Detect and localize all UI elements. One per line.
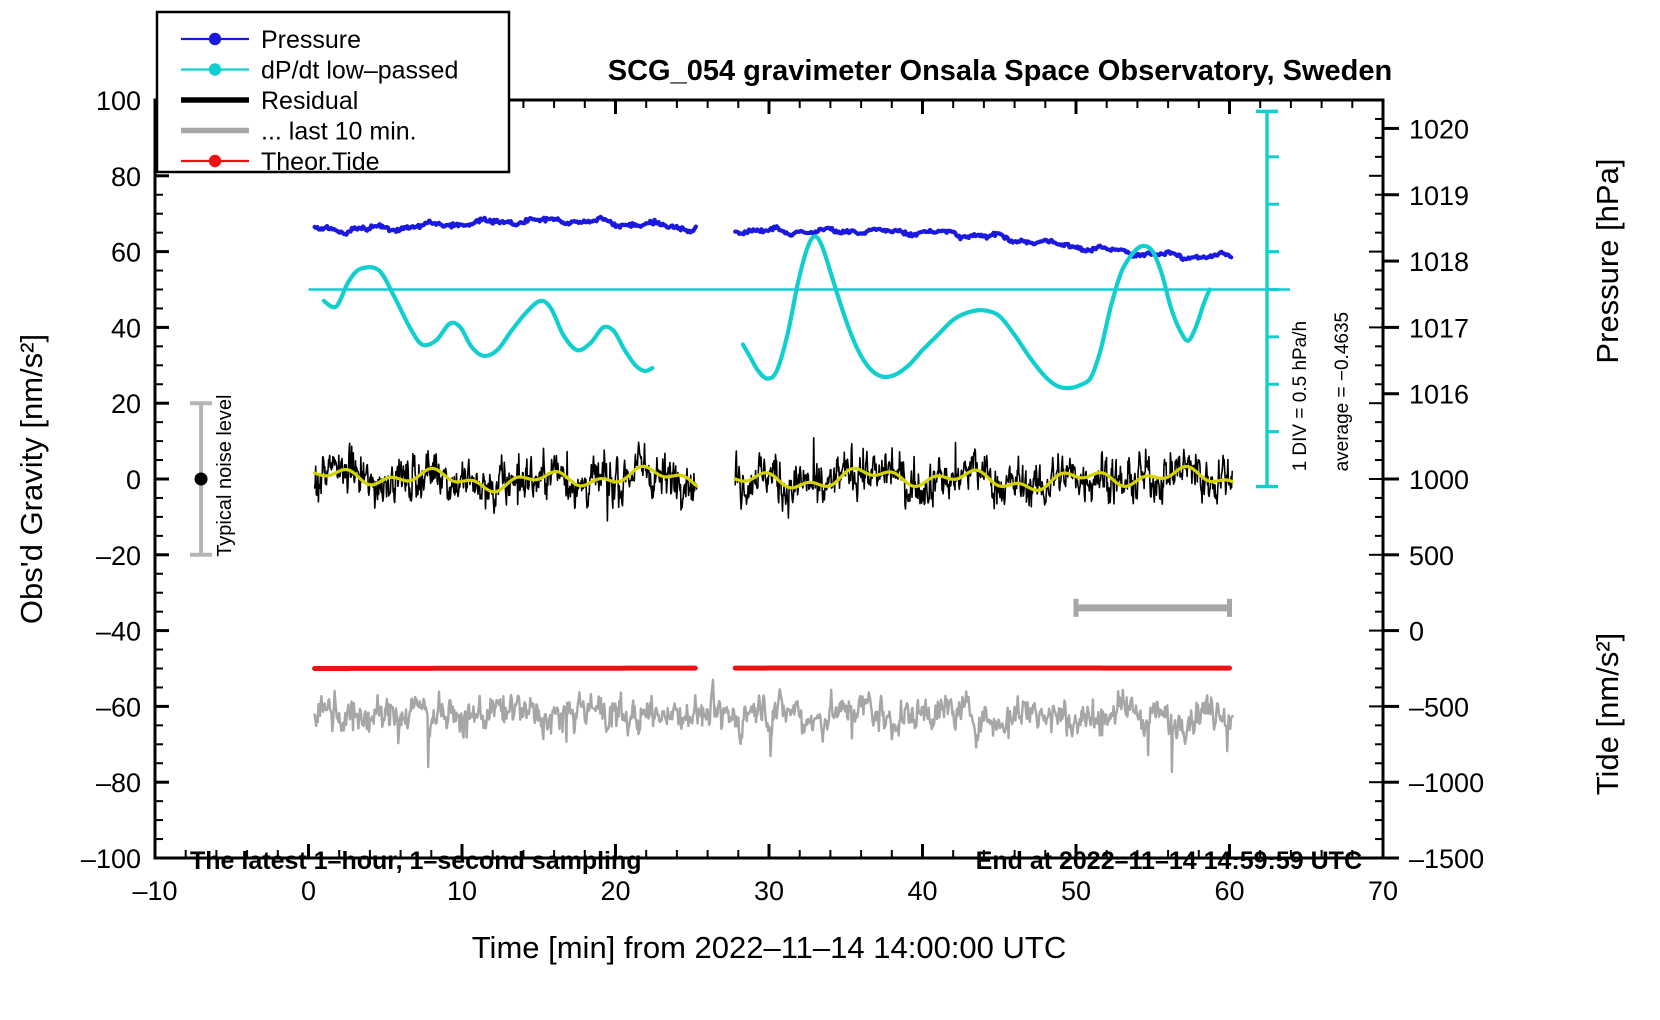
y-tick-label: 40 <box>111 313 141 343</box>
tide-tick-label: –1500 <box>1409 844 1484 874</box>
x-tick-label: 50 <box>1061 876 1091 906</box>
chart-root: –10010203040506070Time [min] from 2022–1… <box>0 0 1660 1020</box>
dpdt-average-label: average = −0.4635 <box>1332 312 1353 472</box>
pressure-tick-label: 1018 <box>1409 247 1469 277</box>
x-tick-label: 60 <box>1214 876 1244 906</box>
x-tick-label: 70 <box>1368 876 1398 906</box>
chart-title: SCG_054 gravimeter Onsala Space Observat… <box>608 55 1392 87</box>
tide-tick-label: –500 <box>1409 692 1469 722</box>
legend-label-0[interactable]: Pressure <box>261 26 361 54</box>
x-tick-label: 0 <box>301 876 316 906</box>
y-tick-label: 100 <box>96 86 141 116</box>
dpdt-line-seg1 <box>324 267 652 371</box>
dpdt-line-seg2 <box>743 236 1210 388</box>
pressure-tick-label: 1017 <box>1409 313 1469 343</box>
tide-tick-label: 1000 <box>1409 465 1469 495</box>
x-tick-label: 40 <box>907 876 937 906</box>
legend-label-1[interactable]: dP/dt low–passed <box>261 57 458 85</box>
y-tick-label: –80 <box>96 768 141 798</box>
x-axis-title: Time [min] from 2022–11–14 14:00:00 UTC <box>472 930 1066 965</box>
x-tick-label: 20 <box>600 876 630 906</box>
gravimeter-chart: –10010203040506070Time [min] from 2022–1… <box>0 0 1660 1020</box>
tide-tick-label: 0 <box>1409 617 1424 647</box>
pressure-tick-label: 1019 <box>1409 181 1469 211</box>
y-tick-label: 0 <box>126 465 141 495</box>
legend-label-4[interactable]: Theor.Tide <box>261 148 380 176</box>
noise-bar-label: Typical noise level <box>214 394 236 556</box>
x-tick-label: 30 <box>754 876 784 906</box>
legend-marker-0[interactable] <box>209 33 221 45</box>
y-tick-label: –60 <box>96 692 141 722</box>
y-tick-label: 80 <box>111 162 141 192</box>
tide-axis-title: Tide [nm/s²] <box>1590 633 1625 796</box>
legend-marker-1[interactable] <box>209 63 221 75</box>
last10min-line <box>315 680 1233 772</box>
residual-line <box>315 442 697 521</box>
y-tick-label: –20 <box>96 541 141 571</box>
y-tick-label: –100 <box>81 844 141 874</box>
legend-marker-4[interactable] <box>209 155 221 167</box>
legend-label-3[interactable]: ... last 10 min. <box>261 118 417 146</box>
pressure-line <box>315 217 696 235</box>
dpdt-div-label: 1 DIV = 0.5 hPa/h <box>1290 321 1311 472</box>
x-tick-label: 10 <box>447 876 477 906</box>
tide-tick-label: 500 <box>1409 541 1454 571</box>
footer-left: The latest 1–hour, 1–second sampling <box>190 847 642 875</box>
legend-label-2[interactable]: Residual <box>261 87 358 115</box>
y-tick-label: 60 <box>111 238 141 268</box>
noise-bar-center-dot <box>195 473 208 486</box>
tide-tick-label: –1000 <box>1409 768 1484 798</box>
y-axis-title: Obs'd Gravity [nm/s²] <box>14 334 49 624</box>
x-tick-label: –10 <box>132 876 177 906</box>
footer-right: End at 2022–11–14 14:59:59 UTC <box>976 847 1362 875</box>
y-tick-label: –40 <box>96 617 141 647</box>
pressure-axis-title: Pressure [hPa] <box>1590 159 1625 364</box>
pressure-tick-label: 1016 <box>1409 380 1469 410</box>
y-tick-label: 20 <box>111 389 141 419</box>
pressure-tick-label: 1020 <box>1409 114 1469 144</box>
